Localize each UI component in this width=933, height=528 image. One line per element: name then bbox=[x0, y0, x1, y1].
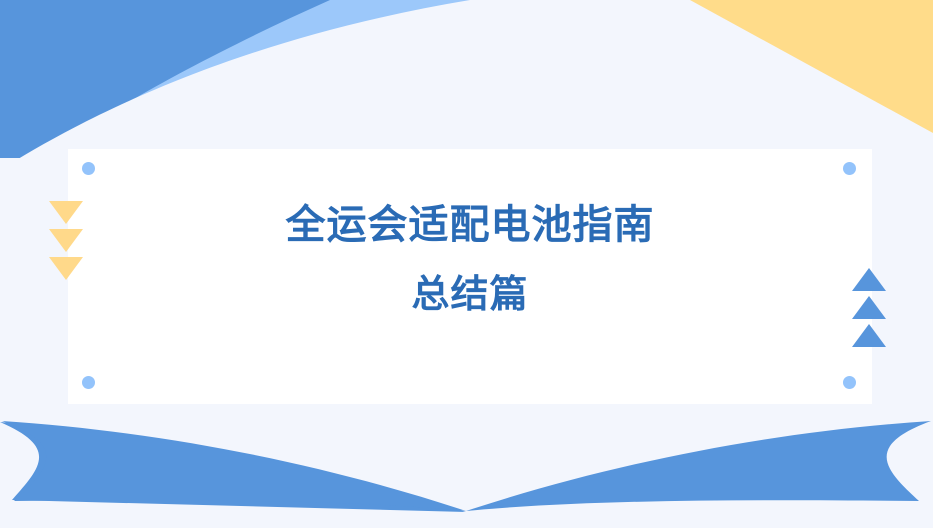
wave-ribbon-right bbox=[466, 421, 931, 511]
wave-ribbon-left bbox=[0, 422, 466, 512]
card-dot-top-right bbox=[843, 162, 856, 175]
blue-banner-top bbox=[0, 0, 330, 158]
title-line-secondary: 总结篇 bbox=[68, 260, 872, 330]
card-dot-top-left bbox=[82, 162, 95, 175]
yellow-corner-triangle bbox=[690, 0, 933, 133]
title-line-primary: 全运会适配电池指南 bbox=[68, 190, 872, 260]
page-title: 全运会适配电池指南 总结篇 bbox=[68, 190, 872, 330]
blue-sweep-curve bbox=[0, 0, 370, 155]
yellow-diagonal-stripe bbox=[0, 0, 276, 86]
blue-sweep-shape bbox=[0, 0, 318, 150]
card-dot-bottom-right bbox=[843, 376, 856, 389]
pale-upper-curve bbox=[0, 0, 933, 170]
wave-ribbon-left-body bbox=[2, 421, 466, 511]
light-blue-diagonal-band bbox=[0, 0, 480, 148]
light-blue-wedge bbox=[60, 0, 470, 146]
title-slide: 全运会适配电池指南 总结篇 bbox=[0, 0, 933, 528]
blue-angled-banner bbox=[0, 0, 318, 150]
card-dot-bottom-left bbox=[82, 376, 95, 389]
